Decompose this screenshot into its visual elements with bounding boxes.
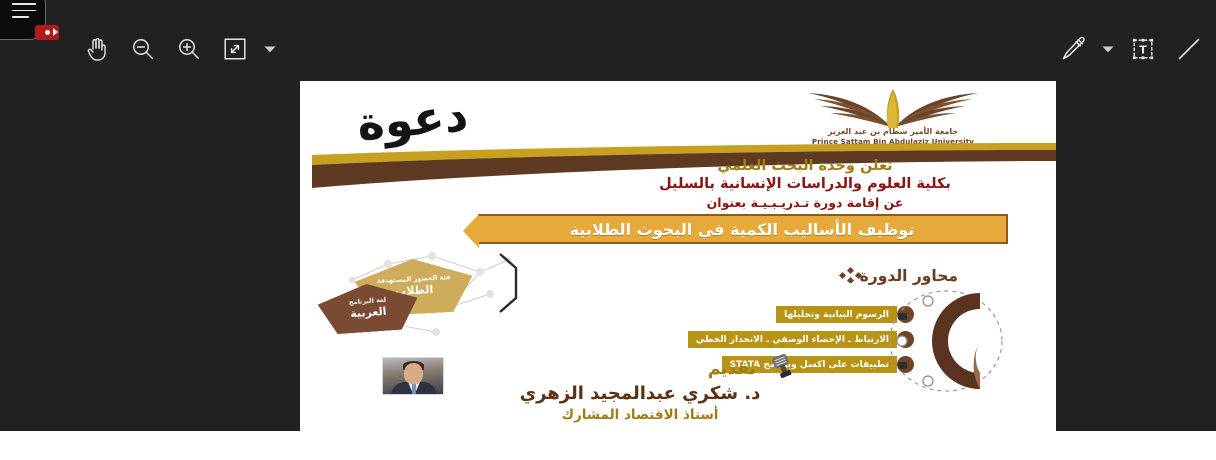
line-icon	[1176, 36, 1202, 62]
pan-hand-tool[interactable]	[74, 26, 120, 72]
university-logo: جامعة الأمير سطام بن عبد العزيز Prince S…	[788, 87, 998, 149]
logo-arabic-name: جامعة الأمير سطام بن عبد العزيز	[788, 127, 998, 136]
photo-face	[404, 363, 423, 384]
chevron-down-icon	[263, 44, 277, 54]
microphone-icon	[768, 353, 798, 379]
chevron-down-icon	[1101, 44, 1115, 54]
pencil-icon	[1060, 36, 1086, 62]
course-title-ribbon: توظيف الأساليب الكمية في البحوث الطلابية	[478, 214, 1008, 244]
topic-label: الارتباط ـ الإحصاء الوصفي ـ الانحدار الخ…	[696, 335, 889, 345]
recording-indicator-badge[interactable]	[35, 25, 59, 40]
text-box-icon: T	[1130, 36, 1156, 62]
announcement-headings: تعلن وحدة البحث العلمي بكلية العلوم والد…	[590, 157, 1020, 212]
zoom-in-icon	[176, 36, 202, 62]
heading-line-2: بكلية العلوم والدراسات الإنسانية بالسليل	[590, 175, 1020, 194]
zoom-in-tool[interactable]	[166, 26, 212, 72]
line-tool[interactable]	[1166, 26, 1212, 72]
heading-line-1: تعلن وحدة البحث العلمي	[590, 157, 1020, 175]
presenter-name: د. شكري عبدالمجيد الزهري	[300, 383, 980, 404]
fit-page-icon	[223, 37, 247, 61]
zoom-menu-tool[interactable]	[258, 26, 282, 72]
text-box-tool[interactable]: T	[1120, 26, 1166, 72]
presenter-role: أستاذ الاقتصاد المشارك	[300, 407, 980, 423]
topic-bar: الارتباط ـ الإحصاء الوصفي ـ الانحدار الخ…	[688, 331, 897, 348]
draw-menu-tool[interactable]	[1096, 26, 1120, 72]
svg-text:T: T	[1139, 44, 1147, 57]
fit-page-tool[interactable]	[212, 26, 258, 72]
document-page[interactable]: دعوة جامعة الأمير سطام بن عبد العزيز Pri…	[300, 81, 1056, 431]
zoom-out-icon	[130, 36, 156, 62]
course-title-text: توظيف الأساليب الكمية في البحوث الطلابية	[570, 220, 915, 239]
presenter-label: تقديم	[708, 359, 756, 379]
viewer-toolbar: T	[0, 0, 1216, 81]
pdf-viewer-canvas: T دعوة	[0, 0, 1216, 431]
open-book-icon	[788, 87, 998, 129]
video-camera-icon	[53, 28, 58, 36]
heading-line-3: عن إقامة دورة تـدريـبـيـة بعنوان	[590, 194, 1020, 212]
hand-icon	[85, 36, 109, 62]
ribbon-notch	[463, 214, 479, 248]
zoom-out-tool[interactable]	[120, 26, 166, 72]
hamburger-menu-icon	[12, 3, 36, 19]
toolbar-right-group: T	[1050, 0, 1212, 81]
toolbar-left-group	[0, 0, 282, 81]
record-dot-icon	[45, 30, 50, 35]
draw-tool[interactable]	[1050, 26, 1096, 72]
language-value: العربية	[350, 304, 387, 320]
